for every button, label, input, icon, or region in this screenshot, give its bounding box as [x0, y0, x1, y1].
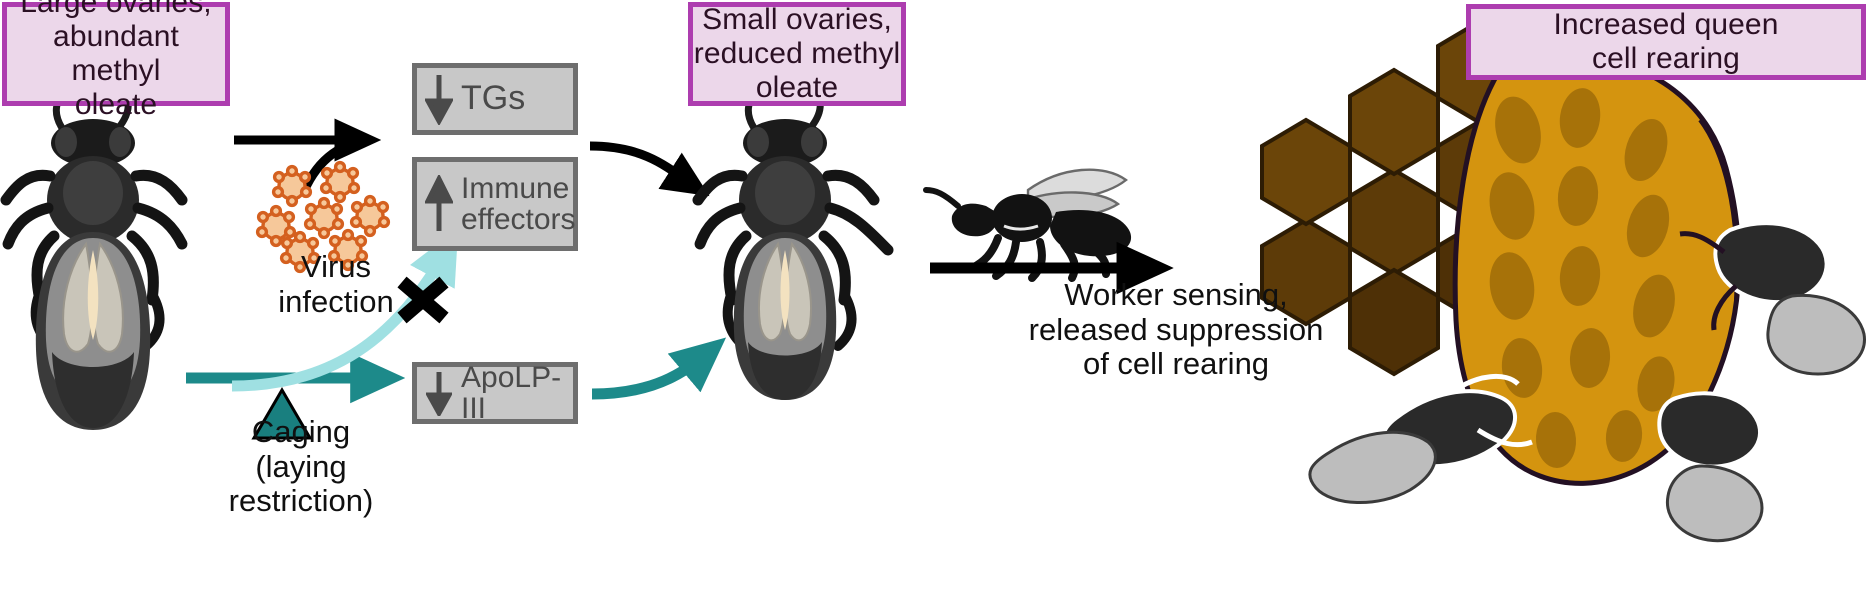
arrow-down-icon: [417, 370, 461, 416]
box-immune-effectors-label: Immune effectors: [461, 173, 582, 236]
box-triglycerides: TGs: [412, 63, 578, 135]
annotation-caging-line-1: Caging: [252, 414, 350, 449]
box-immune-effectors: Immune effectors: [412, 157, 578, 251]
annotation-caging: Caging (laying restriction): [196, 415, 406, 519]
label-large-ovaries-text: Large ovaries, abundant methyl oleate: [7, 0, 225, 122]
box-apolp-iii-label: ApoLP-III: [461, 362, 573, 425]
annotation-worker-line-2: released suppression: [1029, 312, 1324, 347]
annotation-virus-infection: Virus infection: [236, 250, 436, 319]
arrow-up-icon: [417, 175, 461, 233]
annotation-worker-sensing: Worker sensing, released suppression of …: [916, 278, 1436, 382]
label-small-ovaries-text: Small ovaries, reduced methyl oleate: [694, 3, 901, 106]
annotation-caging-line-3: restriction): [229, 483, 374, 518]
annotation-virus-line-2: infection: [278, 284, 393, 319]
label-queen-cell-rearing: Increased queen cell rearing: [1466, 4, 1866, 80]
arrow-boxes-to-center-bee: [590, 146, 700, 190]
label-large-ovaries: Large ovaries, abundant methyl oleate: [2, 2, 230, 106]
queen-bee-icon-center: [698, 82, 888, 400]
box-apolp-iii: ApoLP-III: [412, 362, 578, 424]
box-triglycerides-label: TGs: [461, 81, 573, 117]
label-queen-cell-rearing-text: Increased queen cell rearing: [1553, 8, 1778, 76]
arrow-down-icon: [417, 73, 461, 125]
label-small-ovaries: Small ovaries, reduced methyl oleate: [688, 2, 906, 106]
annotation-worker-line-3: of cell rearing: [1083, 346, 1269, 381]
queen-bee-icon-left: [6, 82, 182, 430]
arrow-apolp-to-center-bee: [592, 346, 716, 394]
annotation-worker-line-1: Worker sensing,: [1064, 277, 1287, 312]
annotation-caging-line-2: (laying: [255, 449, 346, 484]
worker-bee-icon: [926, 170, 1131, 278]
annotation-virus-line-1: Virus: [301, 249, 371, 284]
